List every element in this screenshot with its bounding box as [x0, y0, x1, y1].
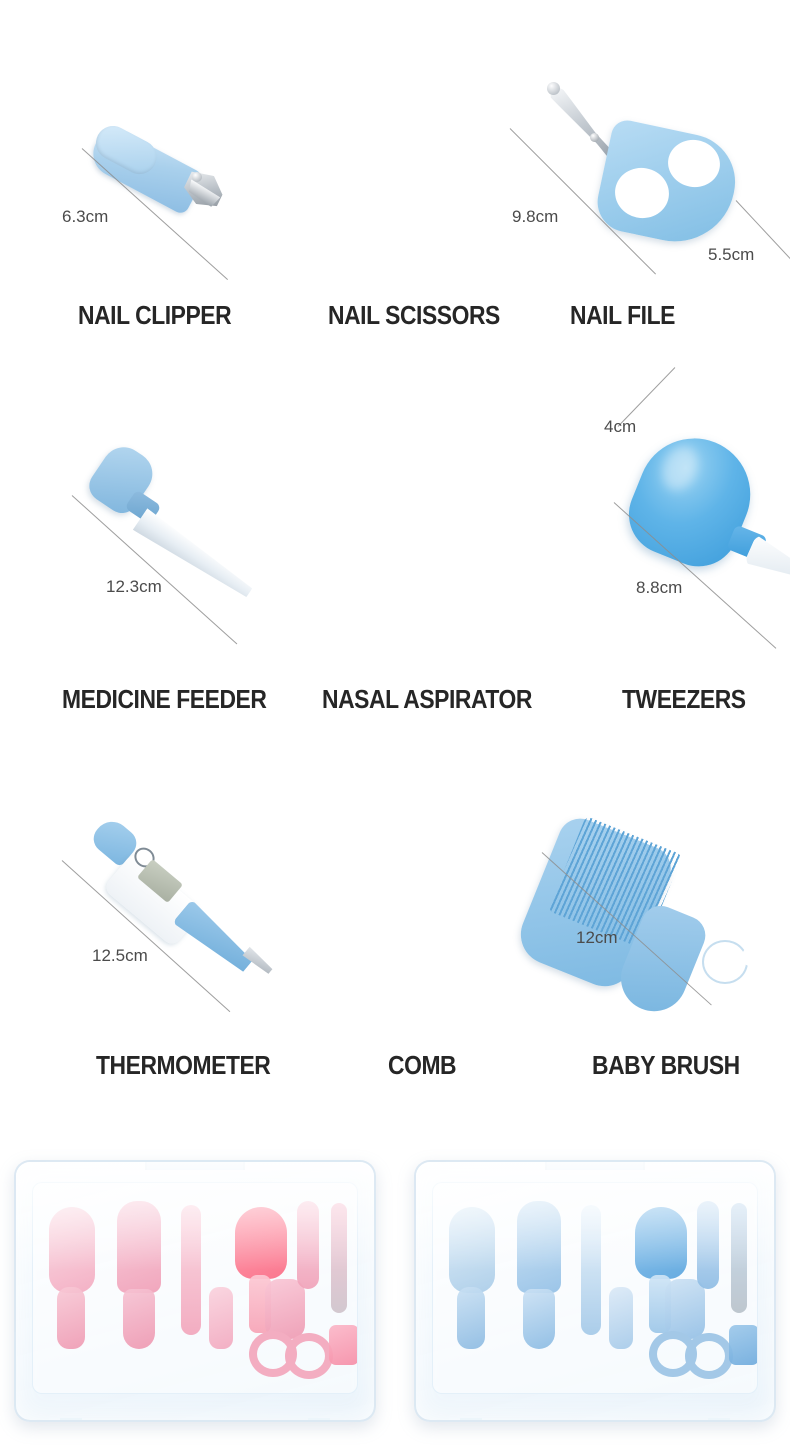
- infographic-sheet: 6.3cm NAIL CLIPPER 9.8cm 5.5cm NAIL SCIS…: [0, 0, 790, 1447]
- kit-item-aspirator-blue: [635, 1207, 687, 1279]
- kit-item-nailfile-pink: [331, 1203, 347, 1313]
- product-baby-brush: 12cm 4cm: [490, 0, 790, 1110]
- case-foot-right-pink: [308, 1418, 330, 1422]
- kit-item-brush-blue: [449, 1207, 495, 1293]
- kit-case-blue: [414, 1160, 776, 1422]
- product-comb: 12cm: [280, 0, 520, 1110]
- case-handle-tab-pink: [145, 1160, 245, 1170]
- product-row-3: 12.5cm THERMOMETER 12cm COMB: [0, 0, 790, 1110]
- kit-item-brush-handle-blue: [457, 1287, 485, 1349]
- kit-item-tweezers-blue: [697, 1201, 719, 1289]
- case-foot-left-blue: [460, 1418, 482, 1422]
- thermometer-lower-body: [172, 900, 257, 978]
- caption-thermometer: THERMOMETER: [96, 1050, 270, 1081]
- case-foot-left-pink: [60, 1418, 82, 1422]
- kit-item-comb-handle-blue: [523, 1289, 555, 1349]
- kit-item-clipper-blue: [609, 1287, 633, 1349]
- kit-item-feeder-pink: [329, 1325, 358, 1365]
- kit-item-aspirator-pink: [235, 1207, 287, 1279]
- dimension-label-thermometer-length: 12.5cm: [92, 946, 148, 966]
- caption-baby-brush: BABY BRUSH: [592, 1050, 740, 1081]
- kit-item-comb-pink: [117, 1201, 161, 1293]
- case-foot-right-blue: [708, 1418, 730, 1422]
- case-handle-tab-blue: [545, 1160, 645, 1170]
- kit-item-nailfile-blue: [731, 1203, 747, 1313]
- kit-item-thermometer-blue: [581, 1205, 601, 1335]
- kit-item-brush-pink: [49, 1207, 95, 1293]
- kit-item-scissors-ring-2-blue: [685, 1333, 733, 1379]
- kit-item-scissors-ring-2-pink: [285, 1333, 333, 1379]
- kit-item-scissors-pink: [265, 1279, 305, 1339]
- kit-item-comb-blue: [517, 1201, 561, 1293]
- case-interior-blue: [432, 1182, 758, 1394]
- kit-item-comb-handle-pink: [123, 1289, 155, 1349]
- kit-item-tweezers-pink: [297, 1201, 319, 1289]
- caption-comb: COMB: [388, 1050, 456, 1081]
- product-thermometer: 12.5cm: [0, 0, 280, 1110]
- case-interior-pink: [32, 1182, 358, 1394]
- kit-case-pink: [14, 1160, 376, 1422]
- kit-item-thermometer-pink: [181, 1205, 201, 1335]
- kit-item-feeder-blue: [729, 1325, 758, 1365]
- kit-item-clipper-pink: [209, 1287, 233, 1349]
- kit-item-scissors-blue: [665, 1279, 705, 1339]
- kit-item-brush-handle-pink: [57, 1287, 85, 1349]
